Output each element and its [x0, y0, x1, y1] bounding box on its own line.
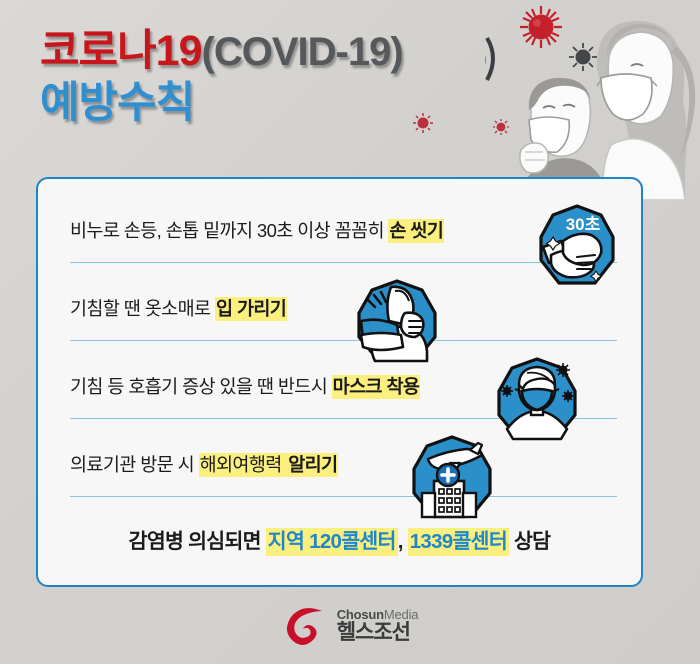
rule-prefix: 기침 등 호흡기 증상 있을 땐 반드시 — [70, 376, 332, 397]
hotline-separator: , — [398, 530, 408, 553]
virus-particle-red-icon — [518, 4, 564, 50]
footer-brand-text: ChosunMedia 헬스조선 — [337, 608, 419, 644]
rule-highlight: 마스크 착용 — [332, 375, 421, 399]
hotline-suffix: 상담 — [509, 530, 550, 553]
title-english: (COVID-19) — [202, 30, 403, 74]
prevention-rules-card: 비누로 손등, 손톱 밑까지 30초 이상 꼼꼼히 손 씻기 — [36, 177, 643, 587]
rule-text-wash-hands: 비누로 손등, 손톱 밑까지 30초 이상 꼼꼼히 손 씻기 — [70, 217, 444, 243]
virus-particle-small-red-icon — [412, 112, 434, 134]
virus-particle-dark-icon — [568, 42, 598, 72]
footer-brand-media: Media — [384, 607, 418, 622]
face-mask-icon — [491, 355, 579, 443]
hotline-prefix: 감염병 의심되면 — [129, 530, 266, 553]
cough-lines-icon — [485, 38, 493, 80]
hotline-line: 감염병 의심되면 지역 120콜센터, 1339콜센터 상담 — [38, 524, 641, 554]
rule-prefix: 기침할 땐 옷소매로 — [70, 298, 215, 319]
hotline-call-1339: 1339콜센터 — [408, 528, 509, 556]
badge-30sec: 30초 — [566, 215, 601, 234]
hotline-call-120: 지역 120콜센터 — [266, 528, 398, 556]
rule-divider — [70, 340, 617, 341]
rule-highlight: 입 가리기 — [215, 297, 287, 321]
footer-brand-kr: 헬스조선 — [337, 622, 419, 644]
rule-prefix: 비누로 손등, 손톱 밑까지 30초 이상 꼼꼼히 — [70, 220, 388, 241]
page-title: 코로나19(COVID-19) 예방수칙 — [40, 30, 403, 125]
rule-item-cover-cough: 기침할 땐 옷소매로 입 가리기 — [38, 283, 641, 361]
hospital-airplane-icon — [406, 433, 494, 521]
rule-prefix: 의료기관 방문 시 — [70, 454, 199, 475]
rule-text-cover-cough: 기침할 땐 옷소매로 입 가리기 — [70, 295, 287, 321]
rule-highlight: 알리기 — [287, 453, 338, 477]
rule-highlight-plain: 해외여행력 — [199, 453, 288, 477]
footer-logo: ChosunMedia 헬스조선 — [0, 605, 700, 647]
rule-text-report-travel: 의료기관 방문 시 해외여행력 알리기 — [70, 451, 338, 477]
cough-into-sleeve-icon — [351, 277, 439, 365]
rule-highlight: 손 씻기 — [388, 219, 444, 243]
rule-item-wear-mask: 기침 등 호흡기 증상 있을 땐 반드시 마스크 착용 — [38, 361, 641, 439]
footer-brand-chosun: Chosun — [337, 607, 384, 622]
footer-brand-en: ChosunMedia — [337, 608, 419, 622]
title-line-2: 예방수칙 — [40, 82, 403, 125]
title-korean: 코로나19 — [40, 27, 202, 75]
rule-item-wash-hands: 비누로 손등, 손톱 밑까지 30초 이상 꼼꼼히 손 씻기 — [38, 205, 641, 283]
virus-particle-tiny-red-icon — [492, 118, 510, 136]
chosun-media-logo-icon — [282, 605, 328, 647]
rule-divider — [70, 496, 617, 497]
washing-hands-icon: 30초 — [533, 203, 621, 291]
rule-item-report-travel: 의료기관 방문 시 해외여행력 알리기 — [38, 439, 641, 517]
title-line-1: 코로나19(COVID-19) — [40, 30, 403, 73]
rule-text-wear-mask: 기침 등 호흡기 증상 있을 땐 반드시 마스크 착용 — [70, 373, 420, 399]
